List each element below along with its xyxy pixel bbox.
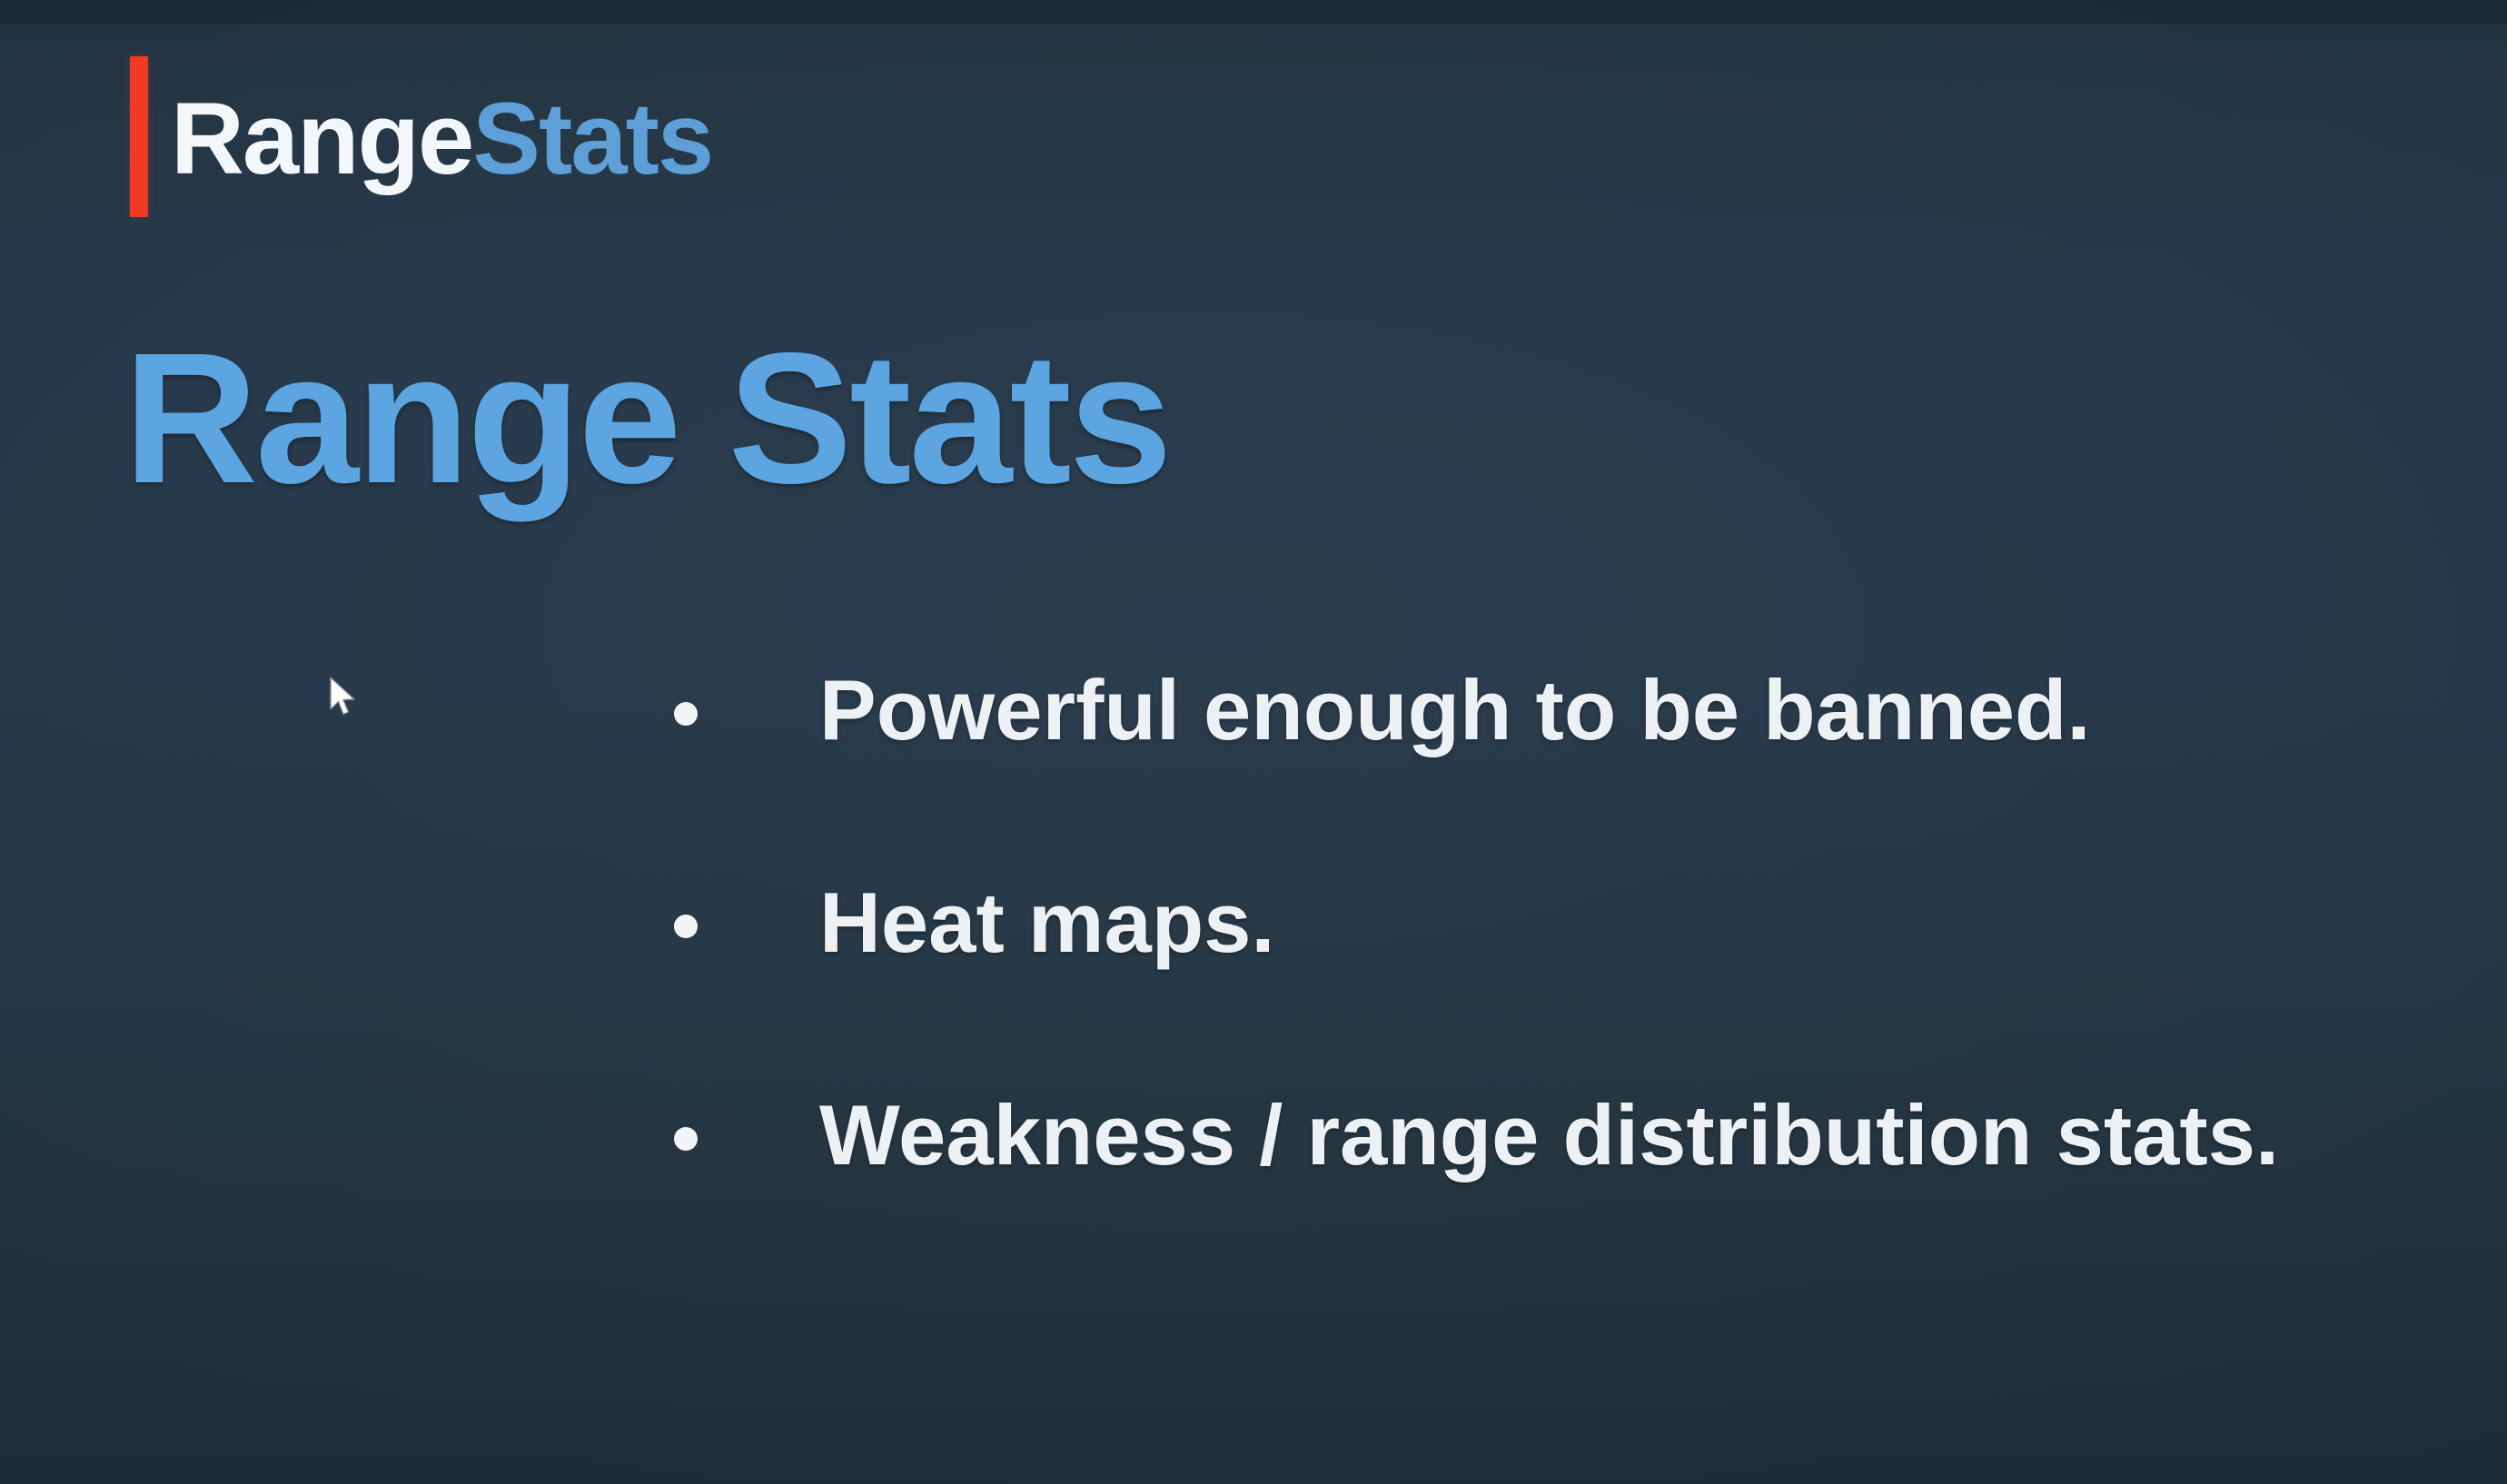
presentation-slide: RangeStats Range Stats Powerful enough t… [0, 0, 2507, 1484]
bullet-dot-icon [674, 702, 698, 726]
bullet-text: Heat maps. [819, 880, 1275, 965]
mouse-pointer-icon [329, 677, 360, 718]
list-item: Heat maps. [674, 880, 2279, 1093]
list-item: Powerful enough to be banned. [674, 668, 2279, 880]
bullet-list: Powerful enough to be banned. Heat maps.… [674, 668, 2279, 1305]
bullet-dot-icon [674, 915, 698, 938]
bullet-dot-icon [674, 1127, 698, 1151]
logo-word-stats: Stats [472, 82, 712, 195]
rangestats-logo[interactable]: RangeStats [130, 56, 712, 217]
slide-title: Range Stats [124, 325, 1170, 511]
logo-wordmark: RangeStats [171, 88, 712, 190]
logo-word-range: Range [171, 82, 472, 195]
bullet-text: Weakness / range distribution stats. [819, 1093, 2279, 1178]
list-item: Weakness / range distribution stats. [674, 1093, 2279, 1305]
logo-accent-bar [130, 56, 148, 217]
bullet-text: Powerful enough to be banned. [819, 668, 2091, 753]
